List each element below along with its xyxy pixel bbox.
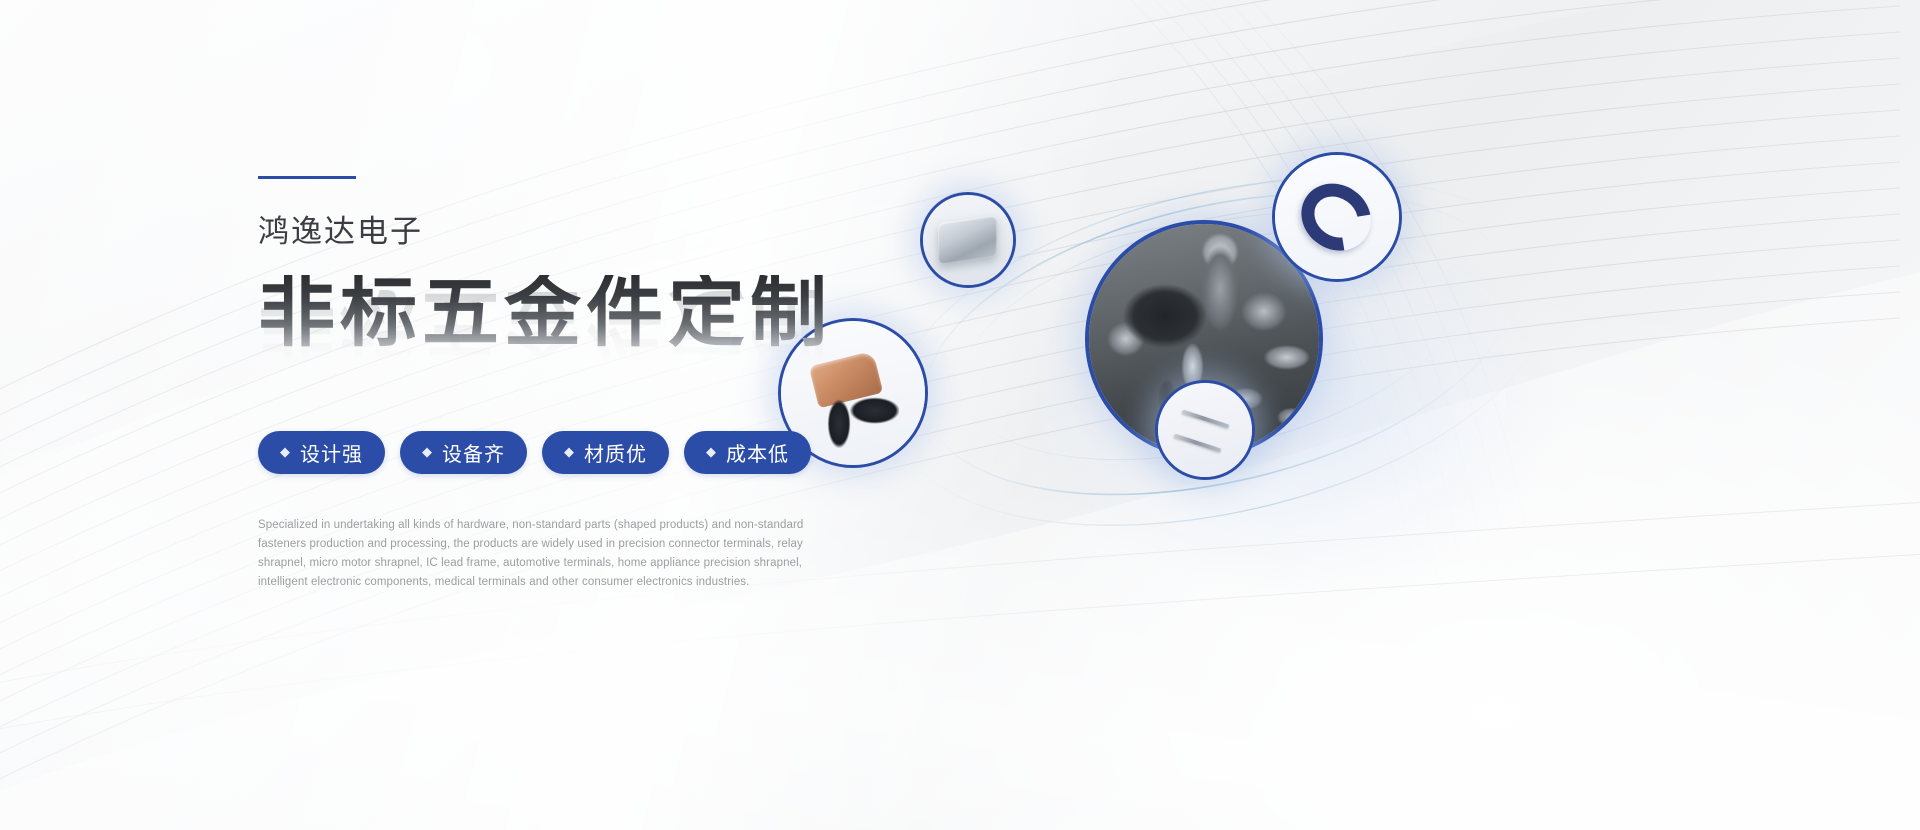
product-node-enclosure-box[interactable] (920, 192, 1016, 288)
silver-enclosure-box-image (923, 195, 1013, 285)
diamond-icon: ◆ (706, 445, 717, 458)
feature-pill-label: 设备齐 (442, 438, 505, 467)
product-node-retaining-ring[interactable] (1272, 152, 1402, 282)
diamond-icon: ◆ (422, 445, 433, 458)
page-title: 非标五金件定制 (258, 275, 898, 352)
diamond-icon: ◆ (280, 445, 291, 458)
feature-pill-design[interactable]: ◆ 设计强 (258, 431, 385, 474)
feature-pill-label: 材质优 (584, 438, 647, 467)
feature-pill-cost[interactable]: ◆ 成本低 (684, 431, 811, 474)
bent-wire-pins-image (1158, 383, 1252, 477)
hero-banner: 鸿逸达电子 非标五金件定制 非标五金件定制 ◆ 设计强 ◆ 设备齐 ◆ 材质优 … (0, 0, 1920, 830)
description-paragraph: Specialized in undertaking all kinds of … (258, 516, 823, 592)
feature-pill-label: 成本低 (726, 438, 789, 467)
blue-retaining-ring-image (1275, 155, 1399, 279)
product-node-wire-pins[interactable] (1155, 380, 1255, 480)
accent-rule (258, 176, 356, 179)
diamond-icon: ◆ (564, 445, 575, 458)
headline-group: 非标五金件定制 非标五金件定制 (258, 275, 898, 407)
hero-text-block: 鸿逸达电子 非标五金件定制 非标五金件定制 ◆ 设计强 ◆ 设备齐 ◆ 材质优 … (258, 176, 898, 603)
feature-pill-material[interactable]: ◆ 材质优 (542, 431, 669, 474)
feature-pill-label: 设计强 (300, 438, 363, 467)
feature-pill-equipment[interactable]: ◆ 设备齐 (400, 431, 527, 474)
product-collage (900, 130, 1680, 600)
feature-pill-row: ◆ 设计强 ◆ 设备齐 ◆ 材质优 ◆ 成本低 (258, 431, 898, 474)
brand-name: 鸿逸达电子 (258, 215, 898, 249)
